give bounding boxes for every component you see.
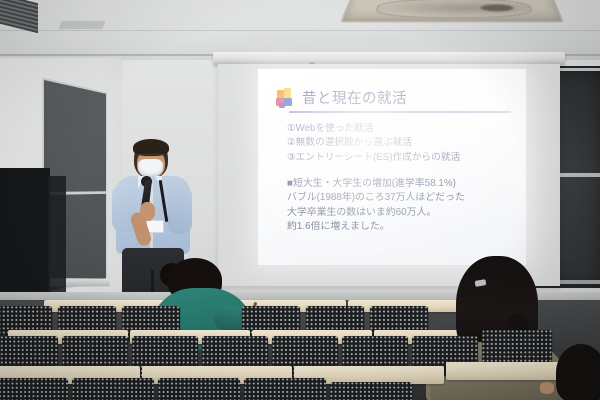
slide-paragraph-line: 約1.6倍に増えました。 [287,220,512,234]
ac-diffuser-ring [374,0,534,19]
slide-paragraph-heading: ■短大生・大学生の増加(進学率58.1%) [287,177,512,191]
mesh-lecture-chair [244,378,326,400]
slide-title: 昔と現在の就活 [302,87,407,108]
powerpoint-accent-logo-icon [276,88,295,107]
ceiling-air-conditioner [340,0,564,23]
projection-screen: 昔と現在の就活 ①Webを使った就活 ②無数の選択肢から選ぶ就活 ③エントリーシ… [218,64,560,286]
mesh-lecture-chair [72,378,154,400]
slide-bullet-item: ①Webを使った就活 [287,122,512,136]
lecture-hall-photo: 昔と現在の就活 ①Webを使った就活 ②無数の選択肢から選ぶ就活 ③エントリーシ… [0,0,600,400]
audience-hand [540,382,554,394]
ceiling-seam [0,30,600,31]
slide-paragraph-line: 大学卒業生の数はいま約60万人。 [287,206,512,220]
slide-title-row: 昔と現在の就活 [276,87,512,108]
mesh-lecture-chair [158,378,240,400]
ceiling-vent-icon [58,21,105,29]
slide-paragraph: ■短大生・大学生の増加(進学率58.1%) バブル(1988年)のころ37万人ほ… [287,177,512,234]
presenter-sleeve [168,184,192,234]
projected-slide: 昔と現在の就活 ①Webを使った就活 ②無数の選択肢から選ぶ就活 ③エントリーシ… [258,69,526,265]
left-dark-panel-secondary [48,176,66,294]
slide-bullet-item: ③エントリーシート(ES)作成からの就活 [287,151,512,165]
slide-bullet-item: ②無数の選択肢から選ぶ就活 [287,136,512,150]
mesh-lecture-chair [0,378,68,400]
ac-vent-hole [481,4,515,11]
slide-paragraph-line: バブル(1988年)のころ37万人ほどだった [287,191,512,205]
ceiling-grille-icon [0,0,38,33]
presenter-hand [140,202,155,221]
slide-bullet-list: ①Webを使った就活 ②無数の選択肢から選ぶ就活 ③エントリーシート(ES)作成… [287,122,512,165]
slide-title-underline [289,111,511,113]
left-dark-panel [0,168,50,298]
audience-member-foreground [556,344,600,400]
mesh-lecture-chair [330,382,412,400]
face-mask-icon [138,159,163,177]
